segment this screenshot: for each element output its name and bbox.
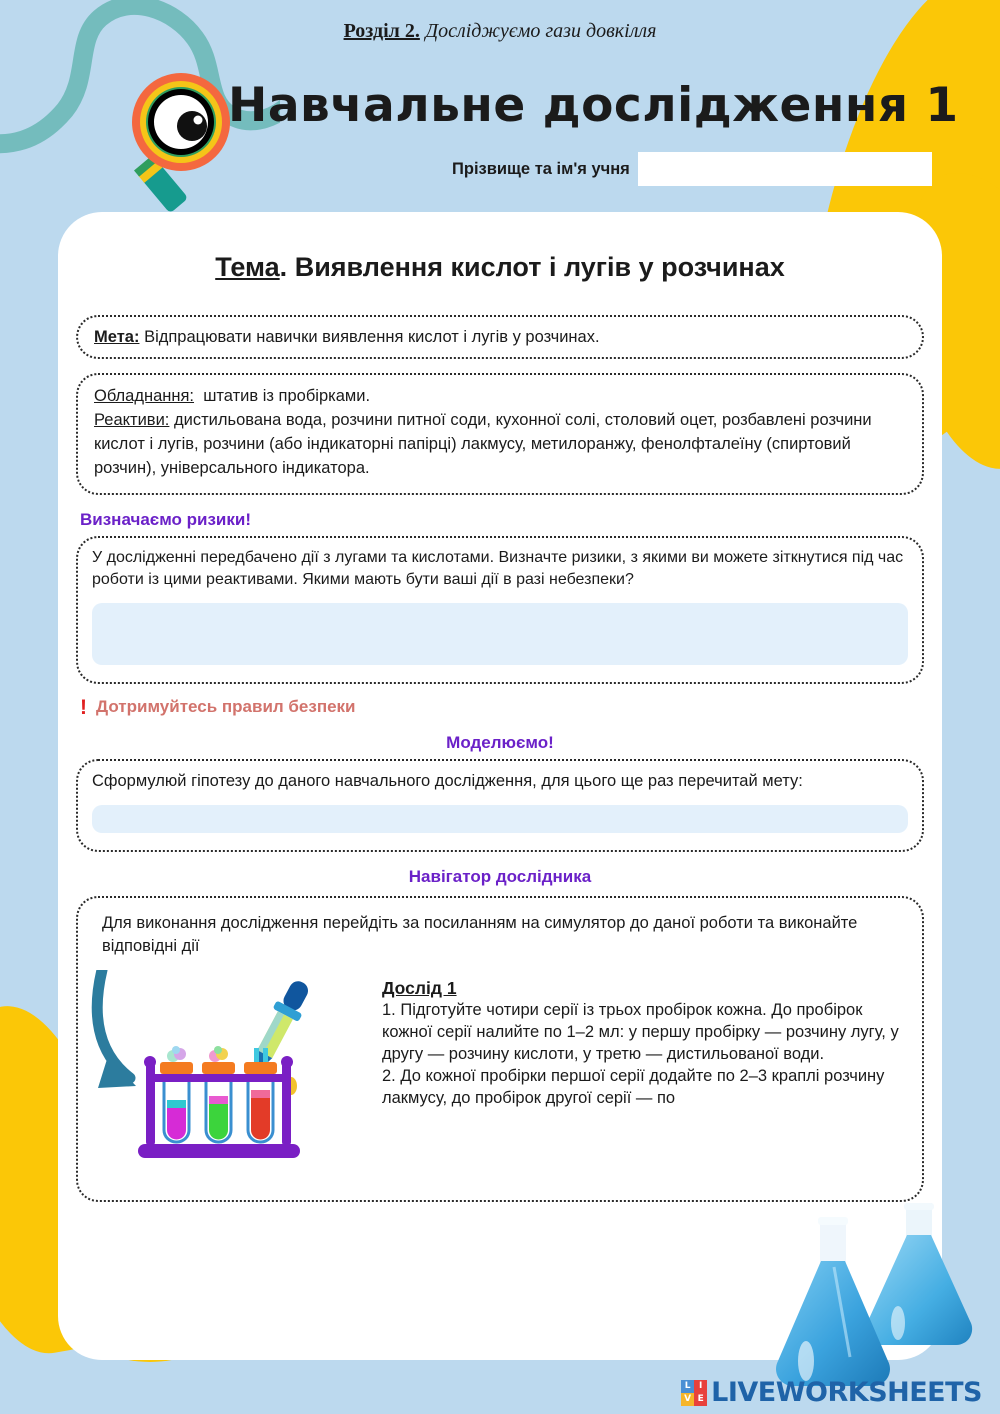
reagents-line: Реактиви: дистильована вода, розчини пит… bbox=[94, 409, 906, 481]
equipment-text: штатив із пробірками. bbox=[203, 387, 370, 405]
experiment-step-1: 1. Підготуйте чотири серії із трьох проб… bbox=[382, 1000, 902, 1066]
logo-cell-v: V bbox=[681, 1393, 694, 1406]
liveworksheets-logo-icon: L I V E bbox=[681, 1380, 707, 1406]
safety-text: Дотримуйтесь правил безпеки bbox=[96, 697, 356, 717]
test-tube-rack-icon bbox=[132, 1044, 312, 1174]
theme-dot: . bbox=[280, 252, 288, 282]
modeling-heading: Моделюємо! bbox=[58, 733, 942, 753]
modeling-box: Сформулюй гіпотезу до даного навчального… bbox=[76, 759, 924, 852]
goal-label: Мета: bbox=[94, 328, 139, 346]
experiment-row: Дослід 1 1. Підготуйте чотири серії із т… bbox=[94, 978, 906, 1110]
modeling-answer-input[interactable] bbox=[92, 805, 908, 833]
logo-cell-l: L bbox=[681, 1380, 694, 1393]
reagents-label: Реактиви: bbox=[94, 411, 169, 429]
student-name-label: Прізвище та ім'я учня bbox=[452, 160, 630, 179]
experiment-illustration bbox=[94, 978, 382, 1110]
equipment-line: Обладнання: штатив із пробірками. bbox=[94, 385, 906, 409]
theme-heading: Тема. Виявлення кислот і лугів у розчина… bbox=[58, 252, 942, 283]
experiment-step-2: 2. До кожної пробірки першої серії додай… bbox=[382, 1066, 902, 1110]
student-name-input[interactable] bbox=[638, 152, 932, 186]
logo-cell-i: I bbox=[694, 1380, 707, 1393]
risks-heading: Визначаємо ризики! bbox=[80, 510, 942, 530]
liveworksheets-footer: L I V E LIVEWORKSHEETS bbox=[681, 1377, 982, 1408]
navigator-intro: Для виконання дослідження перейдіть за п… bbox=[94, 912, 906, 958]
goal-text: Відпрацювати навички виявлення кислот і … bbox=[144, 328, 599, 346]
worksheet-content: Тема. Виявлення кислот і лугів у розчина… bbox=[58, 212, 942, 1360]
reagents-text: дистильована вода, розчини питної соди, … bbox=[94, 411, 872, 477]
chapter-title: Досліджуємо гази довкілля bbox=[425, 20, 656, 42]
risks-box: У дослідженні передбачено дії з лугами т… bbox=[76, 536, 924, 684]
chapter-label: Розділ 2. bbox=[344, 20, 420, 42]
safety-notice: ! Дотримуйтесь правил безпеки bbox=[80, 697, 942, 718]
modeling-prompt: Сформулюй гіпотезу до даного навчального… bbox=[92, 770, 908, 793]
exclamation-icon: ! bbox=[80, 697, 87, 718]
goal-box: Мета: Відпрацювати навички виявлення кис… bbox=[76, 315, 924, 359]
magnifier-eye-icon bbox=[118, 70, 244, 220]
equipment-label: Обладнання: bbox=[94, 387, 194, 405]
risks-answer-input[interactable] bbox=[92, 603, 908, 665]
theme-text: Виявлення кислот і лугів у розчинах bbox=[295, 252, 785, 282]
navigator-box: Для виконання дослідження перейдіть за п… bbox=[76, 896, 924, 1202]
conical-flasks-illustration bbox=[766, 1199, 1000, 1404]
experiment-text: Дослід 1 1. Підготуйте чотири серії із т… bbox=[382, 978, 906, 1110]
theme-label: Тема bbox=[215, 252, 279, 282]
page-title: Навчальне дослідження 1 bbox=[228, 78, 959, 133]
equipment-box: Обладнання: штатив із пробірками. Реакти… bbox=[76, 373, 924, 495]
logo-cell-e: E bbox=[694, 1393, 707, 1406]
student-name-row: Прізвище та ім'я учня bbox=[452, 152, 932, 186]
experiment-title: Дослід 1 bbox=[382, 978, 902, 999]
navigator-heading: Навігатор дослідника bbox=[58, 867, 942, 887]
liveworksheets-wordmark: LIVEWORKSHEETS bbox=[711, 1377, 982, 1408]
chapter-breadcrumb: Розділ 2. Досліджуємо гази довкілля bbox=[0, 20, 1000, 43]
risks-question: У дослідженні передбачено дії з лугами т… bbox=[92, 547, 908, 592]
goal-line: Мета: Відпрацювати навички виявлення кис… bbox=[94, 326, 906, 348]
